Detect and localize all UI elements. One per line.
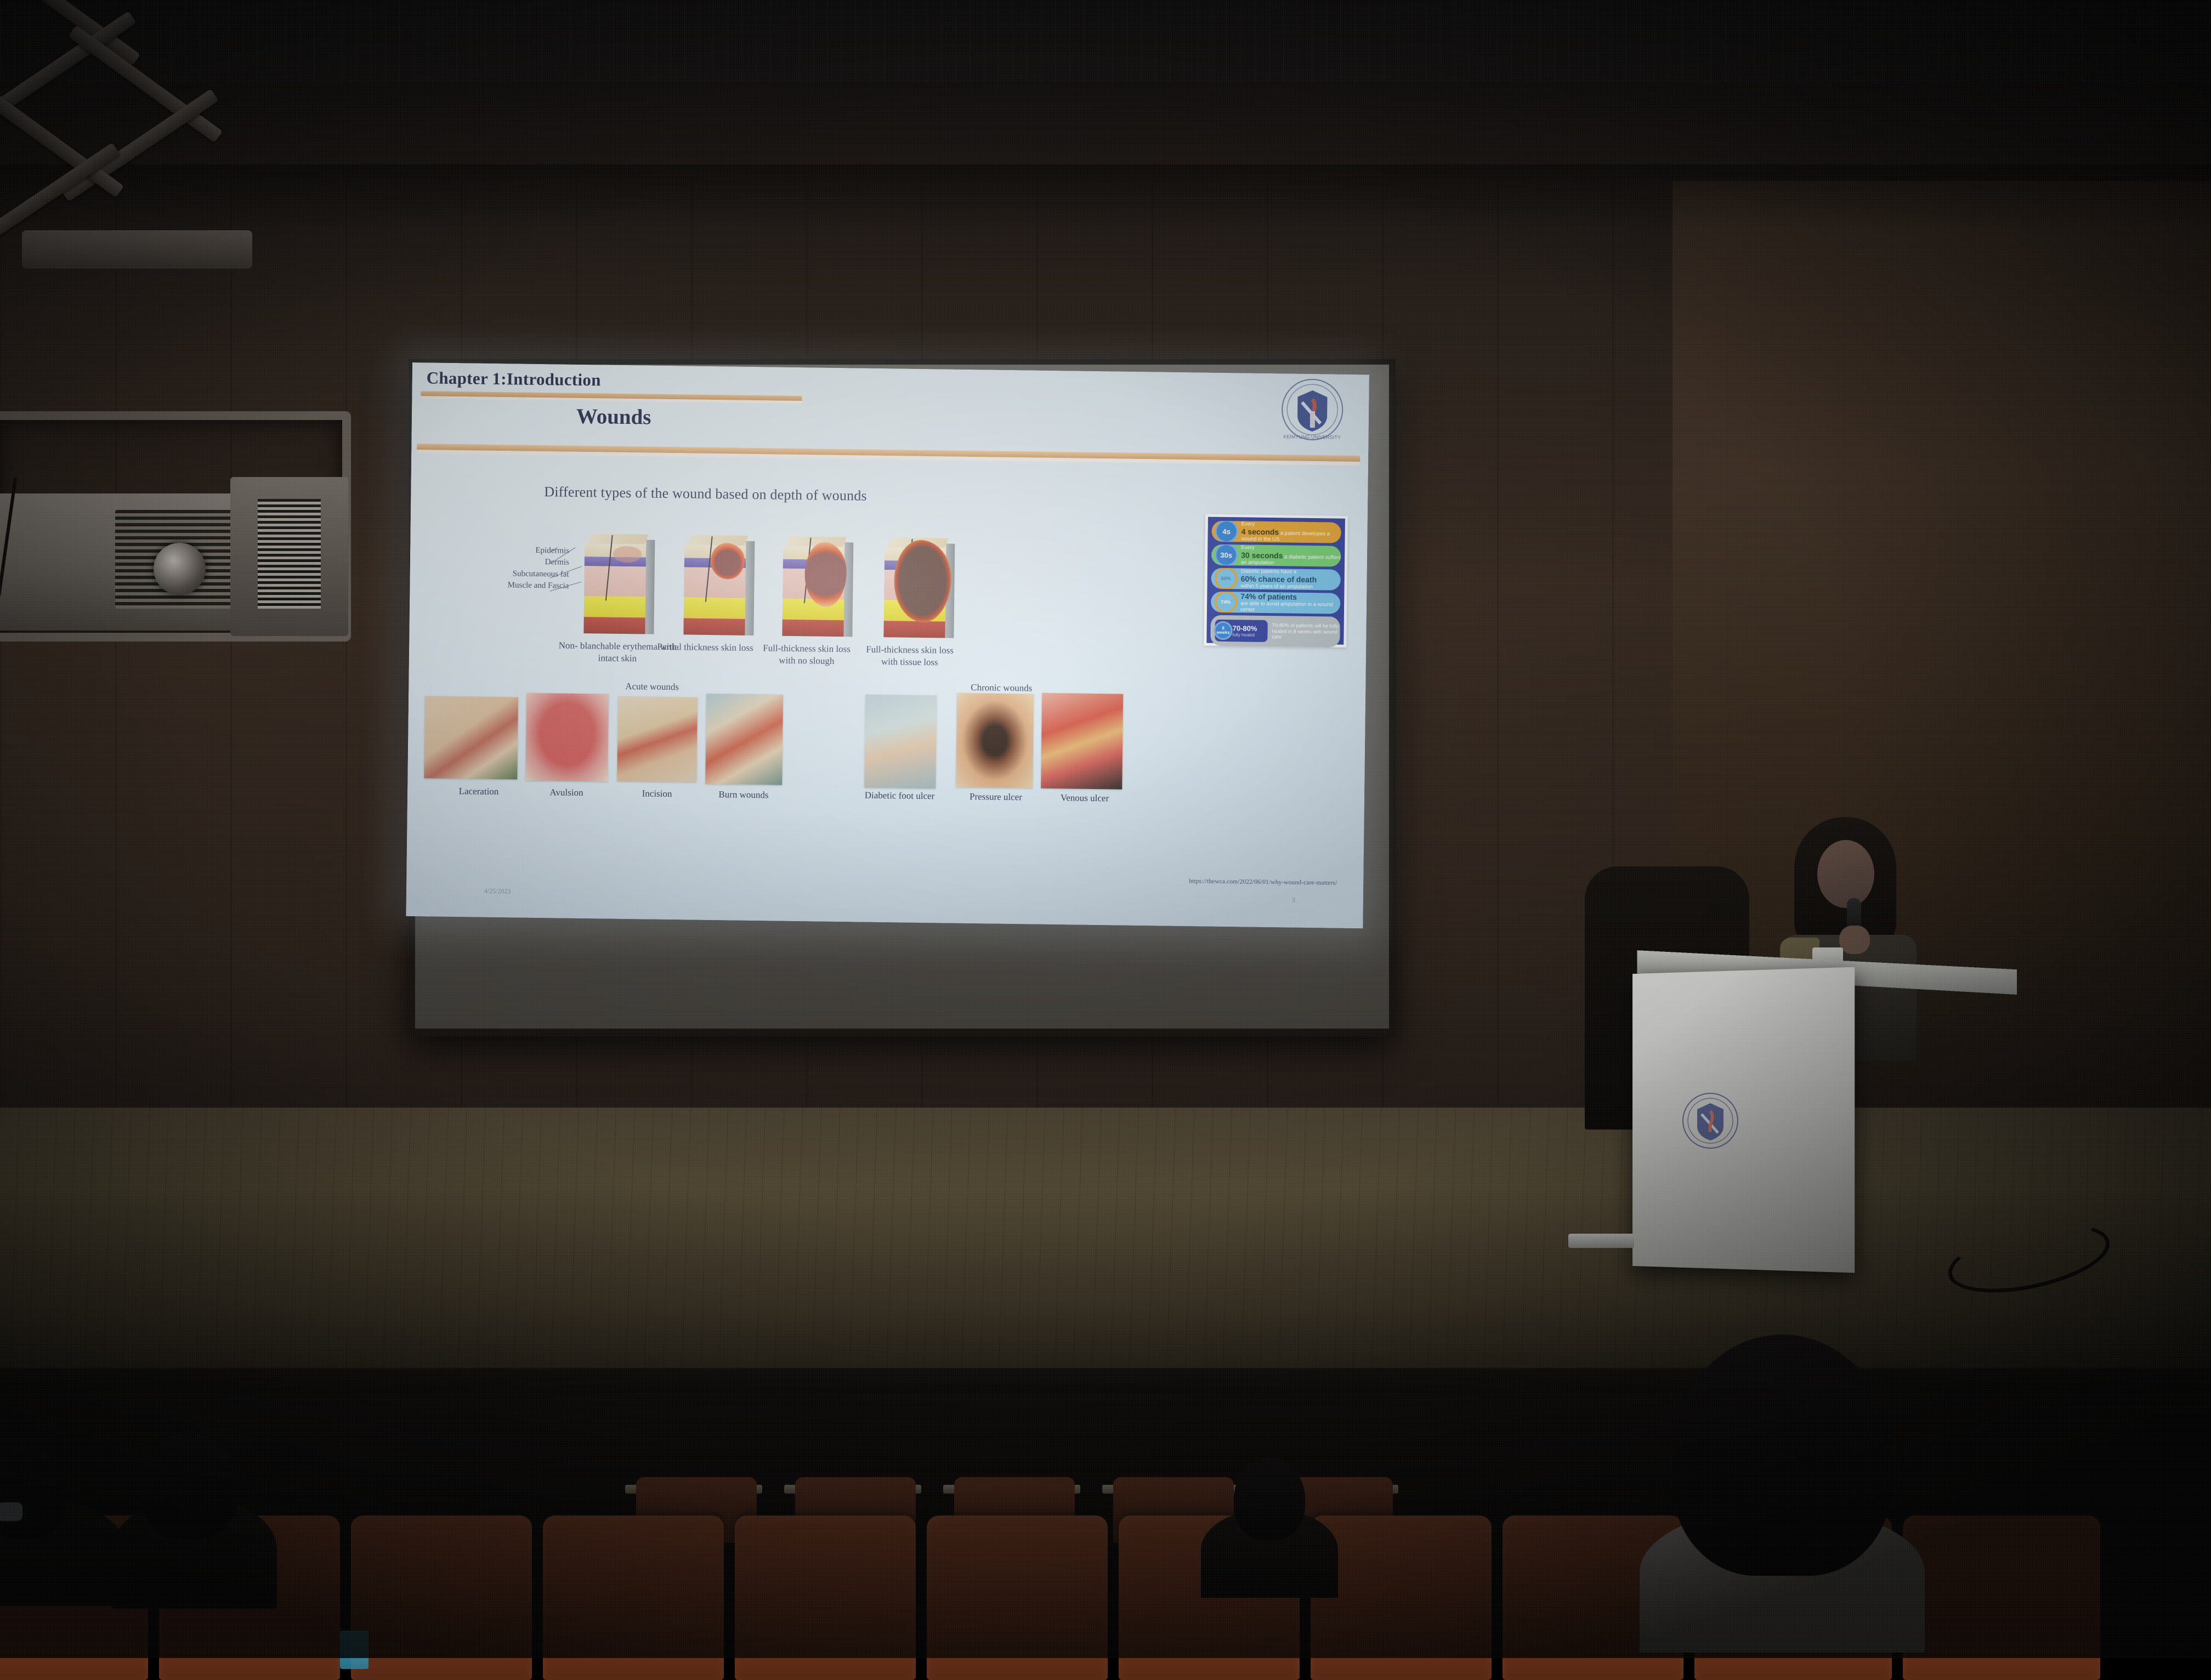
infographic-row: 74% 74% of patients are able to avoid am… xyxy=(1211,592,1340,614)
stat-headline: 74% of patients xyxy=(1240,592,1297,601)
depth-caption: Partial thickness skin loss xyxy=(656,641,755,654)
skin-block-stage-3 xyxy=(782,536,849,639)
projector-lens xyxy=(154,543,206,595)
stat-badge: 74% xyxy=(1214,592,1237,614)
photo-caption: Burn wounds xyxy=(691,788,796,802)
wound-photo-laceration xyxy=(424,696,518,779)
stat-trail: 70-80% of patients will be fully healed … xyxy=(1272,622,1340,641)
depth-caption: Full-thickness skin loss with no slough xyxy=(757,642,857,667)
skin-block-stage-1 xyxy=(583,533,650,636)
photo-caption: Avulsion xyxy=(514,786,619,799)
podium xyxy=(1632,967,1855,1273)
stat-subhead: fully healed xyxy=(1232,632,1257,638)
slide-footer-date: 4/25/2023 xyxy=(484,887,511,896)
source-url: https://thewca.com/2022/06/01/why-wound-… xyxy=(1189,878,1337,886)
auditorium-seat[interactable] xyxy=(1903,1516,2100,1680)
acute-wounds-header: Acute wounds xyxy=(625,681,679,693)
stat-headline: 60% chance of death xyxy=(1241,574,1317,584)
seat-item xyxy=(340,1631,368,1669)
auditorium-seat[interactable] xyxy=(543,1516,724,1680)
infographic-row: 30s Every 30 seconds a diabetic patient … xyxy=(1211,544,1341,567)
slide-subtitle: Different types of the wound based on de… xyxy=(544,484,867,504)
chronic-wounds-header: Chronic wounds xyxy=(971,682,1032,694)
keimyung-university-logo: KEIMYUNG UNIVERSITY xyxy=(1280,377,1345,442)
audience-member-head xyxy=(140,1433,239,1540)
presenter-hand xyxy=(1839,926,1870,954)
lift-head-bracket xyxy=(22,230,252,269)
slide-title: Wounds xyxy=(576,404,651,430)
presentation-slide: Chapter 1:Introduction Wounds xyxy=(406,362,1369,928)
audience-seating xyxy=(0,1477,2211,1658)
wound-photo-incision xyxy=(617,696,698,782)
svg-text:KEIMYUNG UNIVERSITY: KEIMYUNG UNIVERSITY xyxy=(1283,434,1341,440)
projector-grille xyxy=(258,499,321,609)
infographic-row: 4s Every 4 seconds a patient developes a… xyxy=(1211,521,1341,543)
lecture-hall-scene: Chapter 1:Introduction Wounds xyxy=(0,0,2211,1658)
slide-chapter-label: Chapter 1:Introduction xyxy=(426,368,600,390)
stat-badge: 4s xyxy=(1215,521,1238,543)
skin-block-stage-4 xyxy=(883,537,950,640)
stat-trail: are able to avoid amputation in a wound … xyxy=(1240,600,1333,613)
infographic-row: 8 weeks 70-80% fully healed 70-80% of pa… xyxy=(1210,615,1340,648)
auditorium-seat[interactable] xyxy=(351,1516,532,1680)
stat-headline: 4 seconds xyxy=(1241,527,1279,536)
auditorium-seat[interactable] xyxy=(735,1516,916,1680)
ceiling-projector-rig xyxy=(0,0,384,642)
skin-block-stage-2 xyxy=(683,535,750,637)
wound-photo-venous-ulcer xyxy=(1041,693,1123,790)
wound-photo-burn xyxy=(705,694,783,785)
podium-university-seal xyxy=(1681,1091,1740,1150)
stat-lead: Every xyxy=(1241,544,1254,550)
stat-headline: 30 seconds xyxy=(1241,550,1283,560)
auditorium-seat[interactable] xyxy=(927,1516,1108,1680)
stat-headline: 70-80% xyxy=(1233,624,1257,633)
wound-photo-pressure-ulcer xyxy=(956,693,1034,788)
wound-photo-diabetic-foot-ulcer xyxy=(864,695,937,789)
stat-trail: within 5 years of an amputation xyxy=(1240,583,1313,591)
slide-page-number: 3 xyxy=(1291,896,1295,905)
depth-caption: Full-thickness skin loss with tissue los… xyxy=(858,643,962,668)
infographic-row: 60% Diabetic patients have a 60% chance … xyxy=(1211,568,1340,591)
photo-caption: Diabetic foot ulcer xyxy=(849,789,950,802)
projection-screen-assembly: Chapter 1:Introduction Wounds xyxy=(409,359,1396,1036)
podium-area xyxy=(1563,795,2211,1343)
face-mask xyxy=(0,1502,22,1521)
audience-member-head xyxy=(1234,1458,1305,1540)
audience-member-head xyxy=(1673,1335,1892,1576)
scissor-lift-mount xyxy=(0,0,274,252)
floor-cable-coil xyxy=(1942,1212,2116,1305)
stat-badge: 30s xyxy=(1215,544,1238,567)
projected-slide-area: Chapter 1:Introduction Wounds xyxy=(406,362,1369,928)
stat-badge: 60% xyxy=(1214,568,1237,591)
wound-photo-avulsion xyxy=(525,693,609,782)
stat-lead: Every xyxy=(1241,521,1255,527)
screen-surface: Chapter 1:Introduction Wounds xyxy=(415,365,1389,1029)
stat-badge: 8 weeks xyxy=(1214,621,1232,640)
photo-caption: Venous ulcer xyxy=(1033,792,1137,805)
floor-power-strip xyxy=(1568,1234,1634,1248)
auditorium-seat[interactable] xyxy=(1311,1516,1492,1680)
presenter-face xyxy=(1817,840,1874,908)
wound-statistics-infographic: 4s Every 4 seconds a patient developes a… xyxy=(1204,514,1348,648)
